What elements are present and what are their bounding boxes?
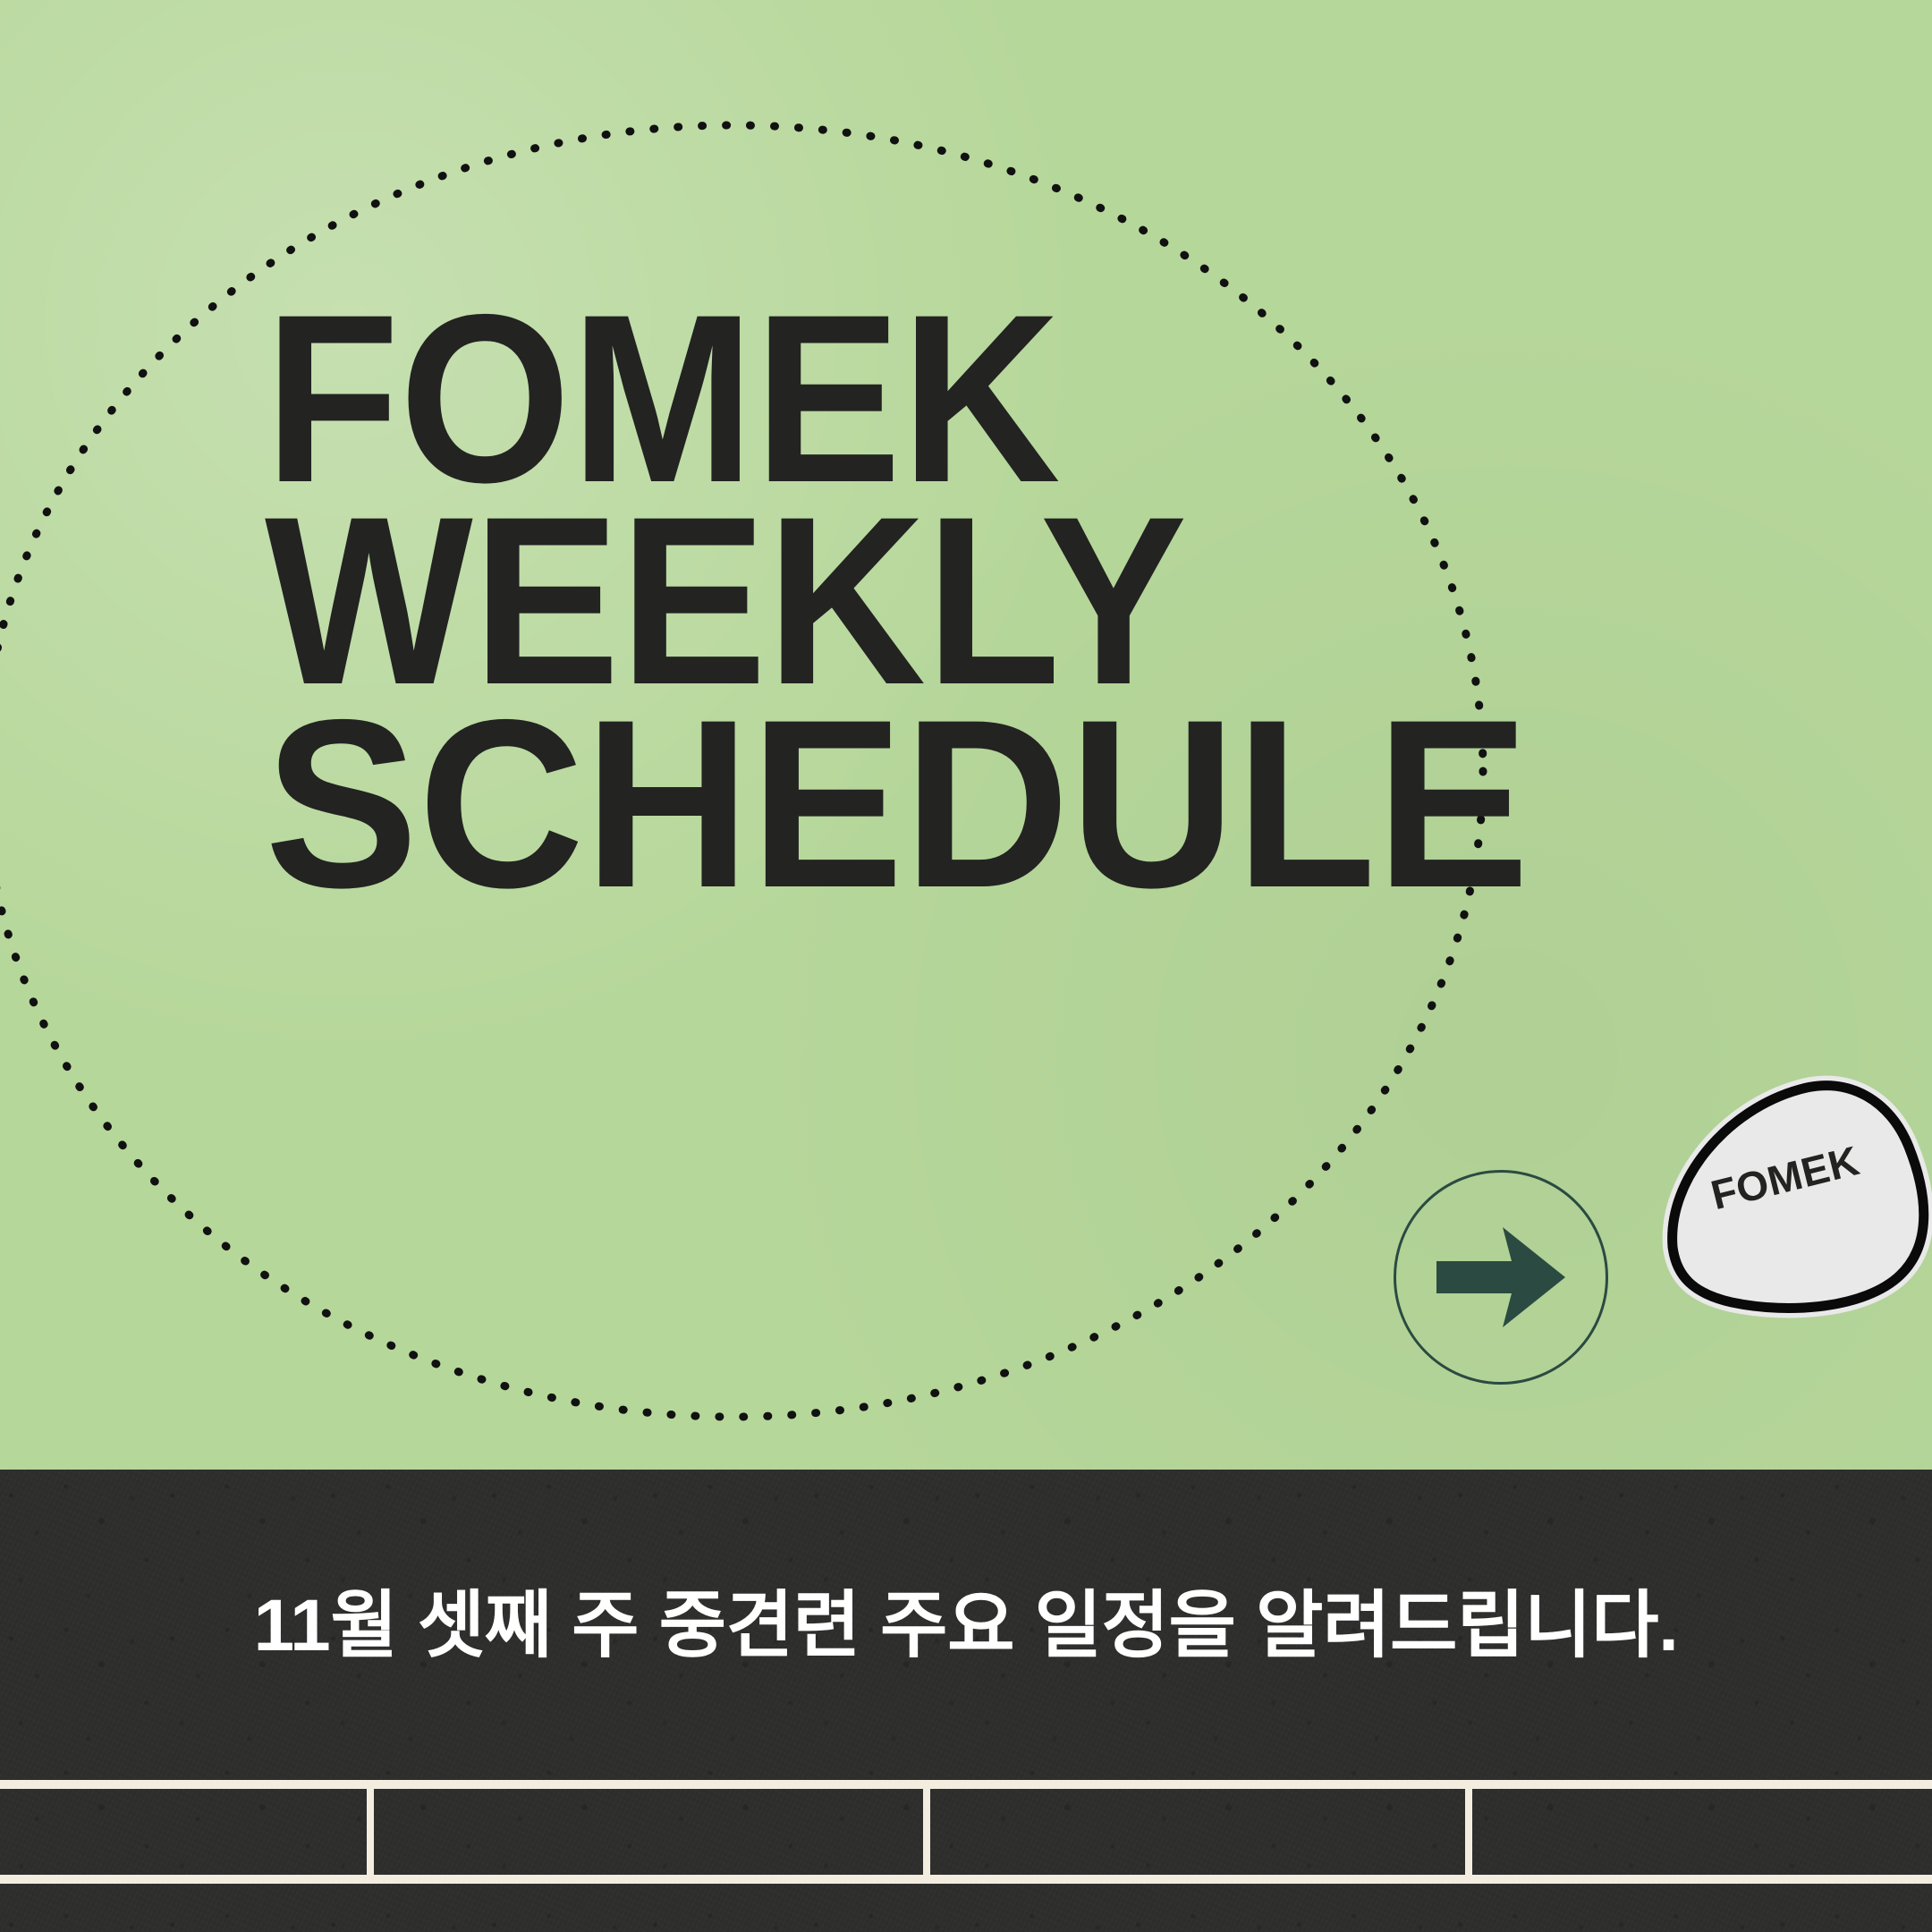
- fomek-sticker[interactable]: FOMEK: [1665, 1072, 1932, 1313]
- arrow-right-icon: [1394, 1170, 1608, 1385]
- strip-cell[interactable]: [374, 1789, 930, 1875]
- next-page-button[interactable]: [1394, 1170, 1608, 1385]
- notice-text: 11월 셋째 주 중견련 주요 일정을 알려드립니다.: [0, 1565, 1932, 1672]
- page-title: FOMEK WEEKLY SCHEDULE: [265, 297, 1767, 904]
- strip-cell[interactable]: [930, 1789, 1472, 1875]
- hero-section: FOMEK WEEKLY SCHEDULE FOMEK: [0, 0, 1932, 1470]
- strip-cell[interactable]: [1472, 1789, 1932, 1875]
- headline-line-3: SCHEDULE: [265, 702, 1707, 904]
- strip-cell[interactable]: [0, 1789, 374, 1875]
- poster-canvas: FOMEK WEEKLY SCHEDULE FOMEK 11월 셋째 주 중견련…: [0, 0, 1932, 1932]
- schedule-strip: [0, 1780, 1932, 1884]
